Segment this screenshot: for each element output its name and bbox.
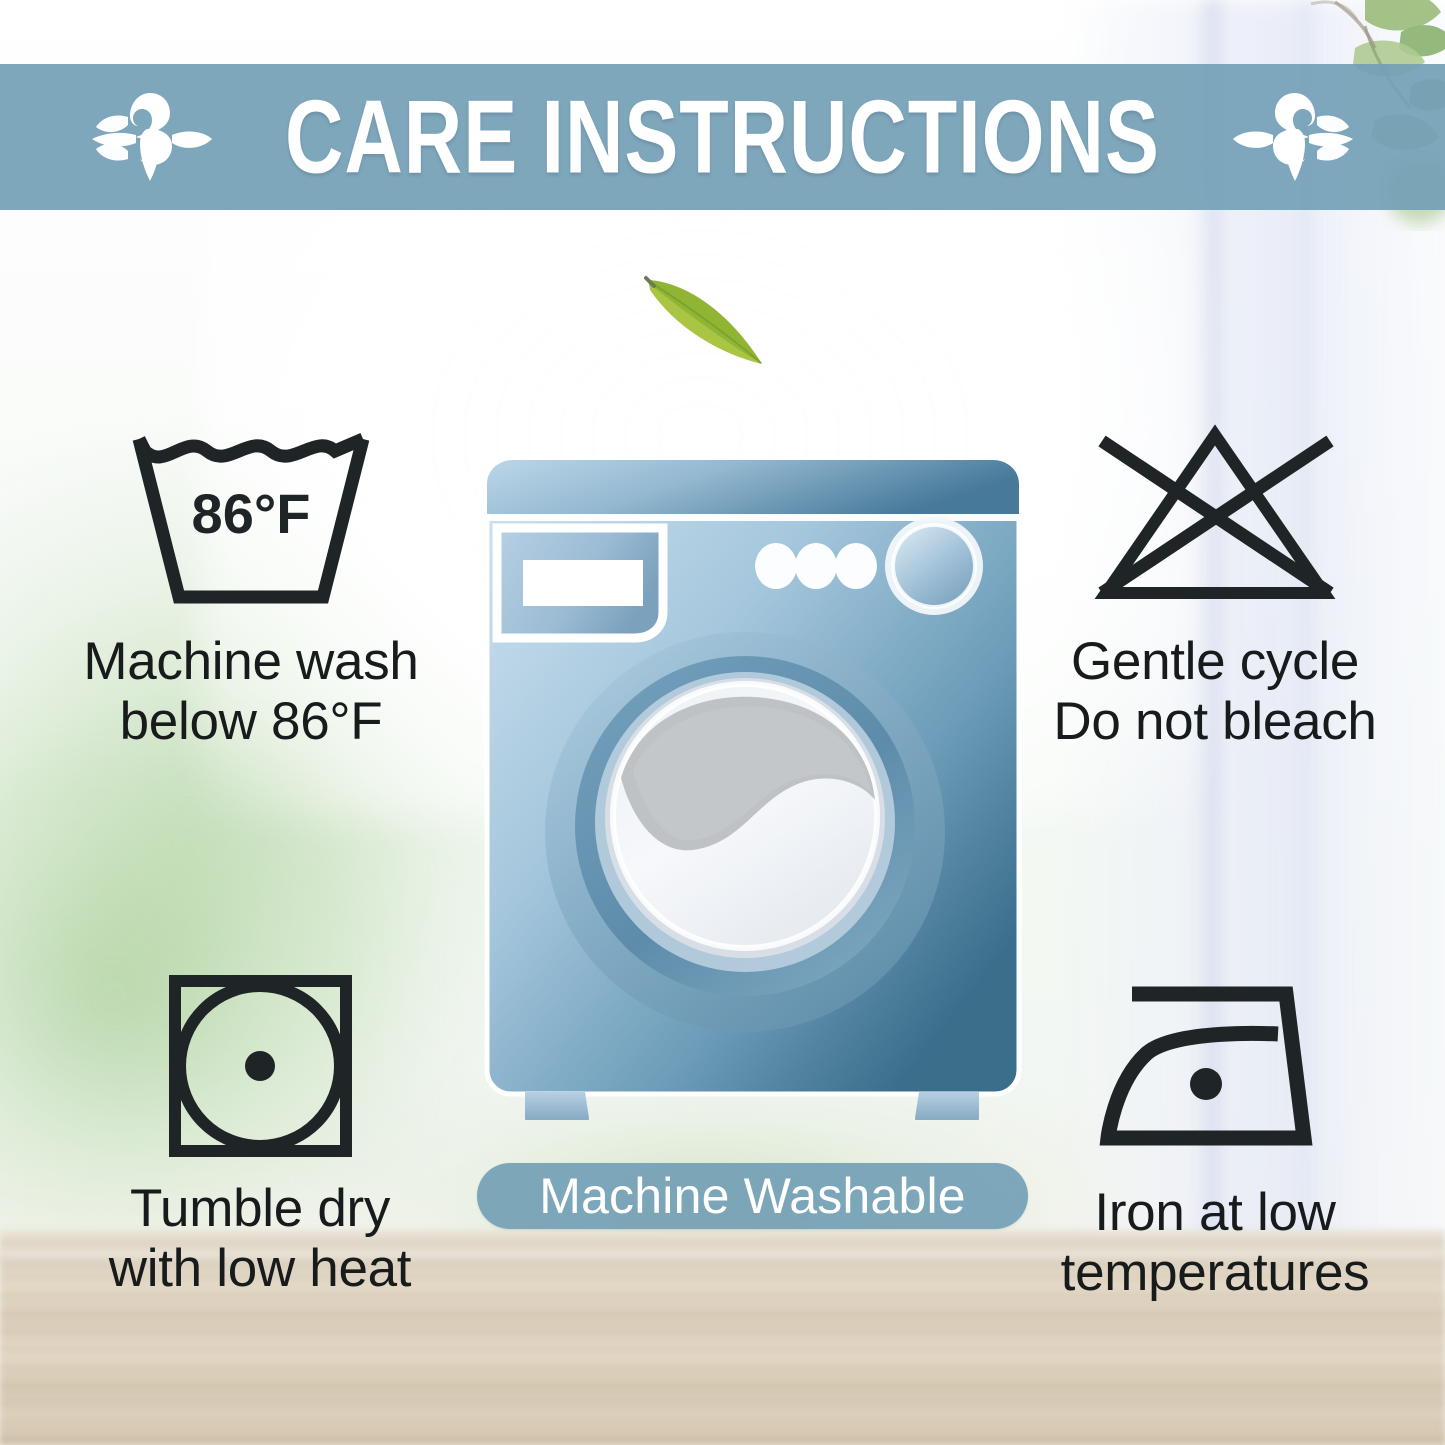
wash-temperature-value: 86°F — [192, 482, 311, 545]
fleur-de-lis-icon-left — [88, 89, 213, 185]
machine-foot — [915, 1092, 979, 1120]
page-title: CARE INSTRUCTIONS — [285, 77, 1160, 197]
care-item-iron: Iron at low temperatures — [1000, 968, 1430, 1303]
badge-label: Machine Washable — [539, 1167, 966, 1225]
care-item-do-not-bleach: Gentle cycle Do not bleach — [1000, 416, 1430, 752]
machine-washable-badge: Machine Washable — [477, 1163, 1028, 1229]
header-banner: CARE INSTRUCTIONS — [0, 64, 1445, 210]
indicator-light — [835, 543, 877, 589]
indicator-light — [795, 543, 837, 589]
floating-leaf-icon — [640, 272, 775, 372]
iron-icon — [1000, 968, 1430, 1163]
care-caption-do-not-bleach: Gentle cycle Do not bleach — [1000, 632, 1430, 752]
care-item-machine-wash: 86°F Machine wash below 86°F — [36, 416, 466, 752]
care-caption-machine-wash: Machine wash below 86°F — [36, 632, 466, 752]
fleur-de-lis-icon-right — [1232, 89, 1357, 185]
machine-foot — [525, 1092, 589, 1120]
crossed-triangle-icon — [1000, 416, 1430, 616]
care-caption-iron: Iron at low temperatures — [1000, 1183, 1430, 1303]
care-caption-tumble-dry: Tumble dry with low heat — [50, 1179, 470, 1299]
indicator-light — [755, 543, 797, 589]
care-instructions-infographic: CARE INSTRUCTIONS — [0, 0, 1445, 1445]
wash-tub-icon: 86°F — [36, 416, 466, 616]
care-item-tumble-dry: Tumble dry with low heat — [50, 968, 470, 1299]
tumble-dry-square-icon — [50, 968, 470, 1163]
washing-machine-illustration — [483, 452, 1023, 1120]
